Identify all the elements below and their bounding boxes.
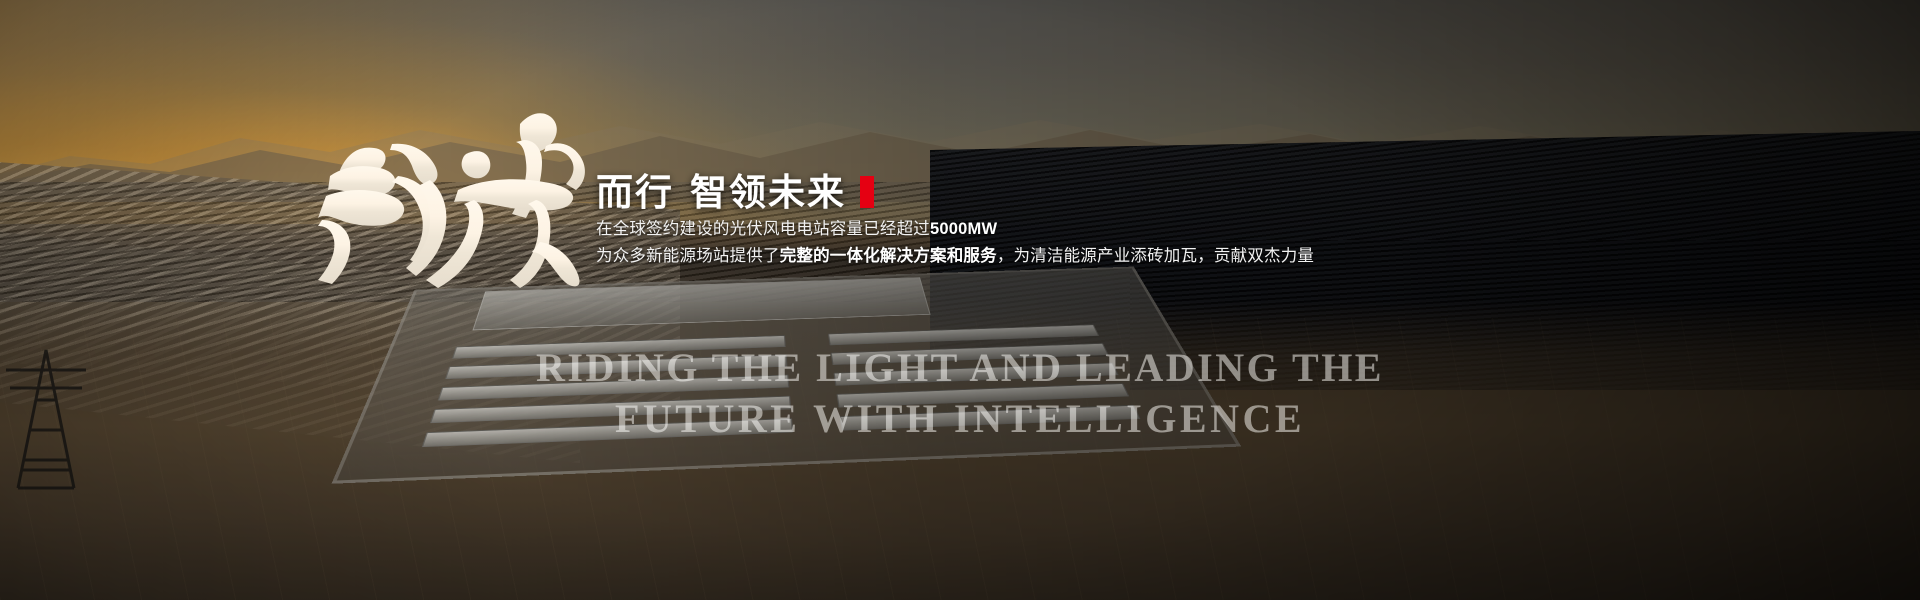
subline-1-plain-1: 在全球签约建设的光伏风电电站容量已经超过 xyxy=(596,220,930,238)
red-accent-block xyxy=(860,176,874,208)
subline-1: 在全球签约建设的光伏风电电站容量已经超过5000MW xyxy=(596,216,1696,243)
substation-yard xyxy=(332,267,1242,484)
hero-copy-block: 而行智领未来 在全球签约建设的光伏风电电站容量已经超过5000MW 为众多新能源… xyxy=(596,168,1696,269)
hero-banner: 而行智领未来 在全球签约建设的光伏风电电站容量已经超过5000MW 为众多新能源… xyxy=(0,0,1920,600)
subline-2: 为众多新能源场站提供了完整的一体化解决方案和服务，为清洁能源产业添砖加瓦，贡献双… xyxy=(596,243,1696,270)
subline-2-bold-1: 完整的一体化解决方案和服务 xyxy=(780,247,997,265)
subline-2-plain-1: 为众多新能源场站提供了 xyxy=(596,247,780,265)
subline-1-bold-1: 5000MW xyxy=(930,220,997,238)
page-title: 而行智领未来 xyxy=(596,174,846,211)
headline-part-2: 智领未来 xyxy=(690,172,846,213)
transmission-pylon-icon xyxy=(0,330,120,490)
headline-row: 而行智领未来 xyxy=(596,168,1696,216)
subline-2-plain-2: ，为清洁能源产业添砖加瓦，贡献双杰力量 xyxy=(997,247,1314,265)
headline-part-1: 而行 xyxy=(596,172,674,213)
